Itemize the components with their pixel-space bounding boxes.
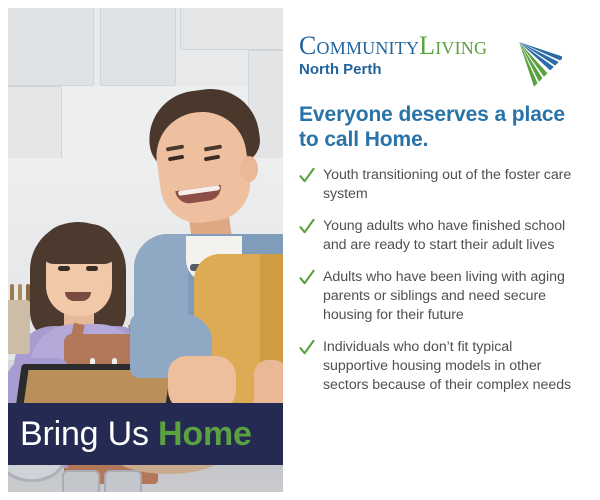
list-item: Young adults who have finished school an… [299, 217, 576, 255]
young-woman-brow-right [85, 258, 100, 261]
page-headline: Everyone deserves a place to call Home. [299, 102, 576, 152]
check-icon [299, 167, 315, 185]
cookie-cutter-1 [62, 470, 100, 492]
cookie-cutter-2 [104, 470, 142, 492]
check-icon [299, 339, 315, 357]
young-woman-bangs [41, 224, 117, 264]
banner-headline: Bring Us Home [8, 417, 252, 451]
young-woman-eye-left [58, 266, 70, 271]
young-woman-brow-left [56, 258, 71, 261]
logo-word-living: Living [419, 31, 487, 60]
list-item-label: Young adults who have finished school an… [323, 217, 576, 255]
banner-text-white: Bring Us [20, 415, 158, 453]
poster-root: Bring Us Home CommunityLiving North Pert… [0, 0, 600, 500]
logo-primary-line: CommunityLiving [299, 32, 487, 60]
content-panel: CommunityLiving North Perth [285, 8, 592, 492]
check-icon [299, 218, 315, 236]
utensil-crock [8, 300, 30, 354]
list-item: Adults who have been living with aging p… [299, 268, 576, 325]
young-man-ear [240, 156, 258, 182]
list-item-label: Adults who have been living with aging p… [323, 268, 576, 325]
cabinet-door-middle [100, 8, 176, 86]
young-woman-eye-right [86, 266, 98, 271]
check-icon [299, 269, 315, 287]
range-hood [180, 8, 283, 50]
cabinet-door-left [8, 8, 94, 86]
eligibility-list: Youth transitioning out of the foster ca… [299, 166, 576, 395]
logo-wordmark: CommunityLiving North Perth [299, 32, 487, 79]
logo-word-community: Community [299, 31, 419, 60]
list-item-label: Youth transitioning out of the foster ca… [323, 166, 576, 204]
logo-locality: North Perth [299, 61, 487, 79]
list-item: Individuals who don’t fit typical suppor… [299, 338, 576, 395]
diamond-rays-logo-mark [506, 26, 562, 88]
list-item-label: Individuals who don’t fit typical suppor… [323, 338, 576, 395]
bring-us-home-banner: Bring Us Home [8, 403, 283, 465]
organization-logo: CommunityLiving North Perth [299, 26, 576, 98]
banner-text-green: Home [158, 415, 252, 453]
list-item: Youth transitioning out of the foster ca… [299, 166, 576, 204]
